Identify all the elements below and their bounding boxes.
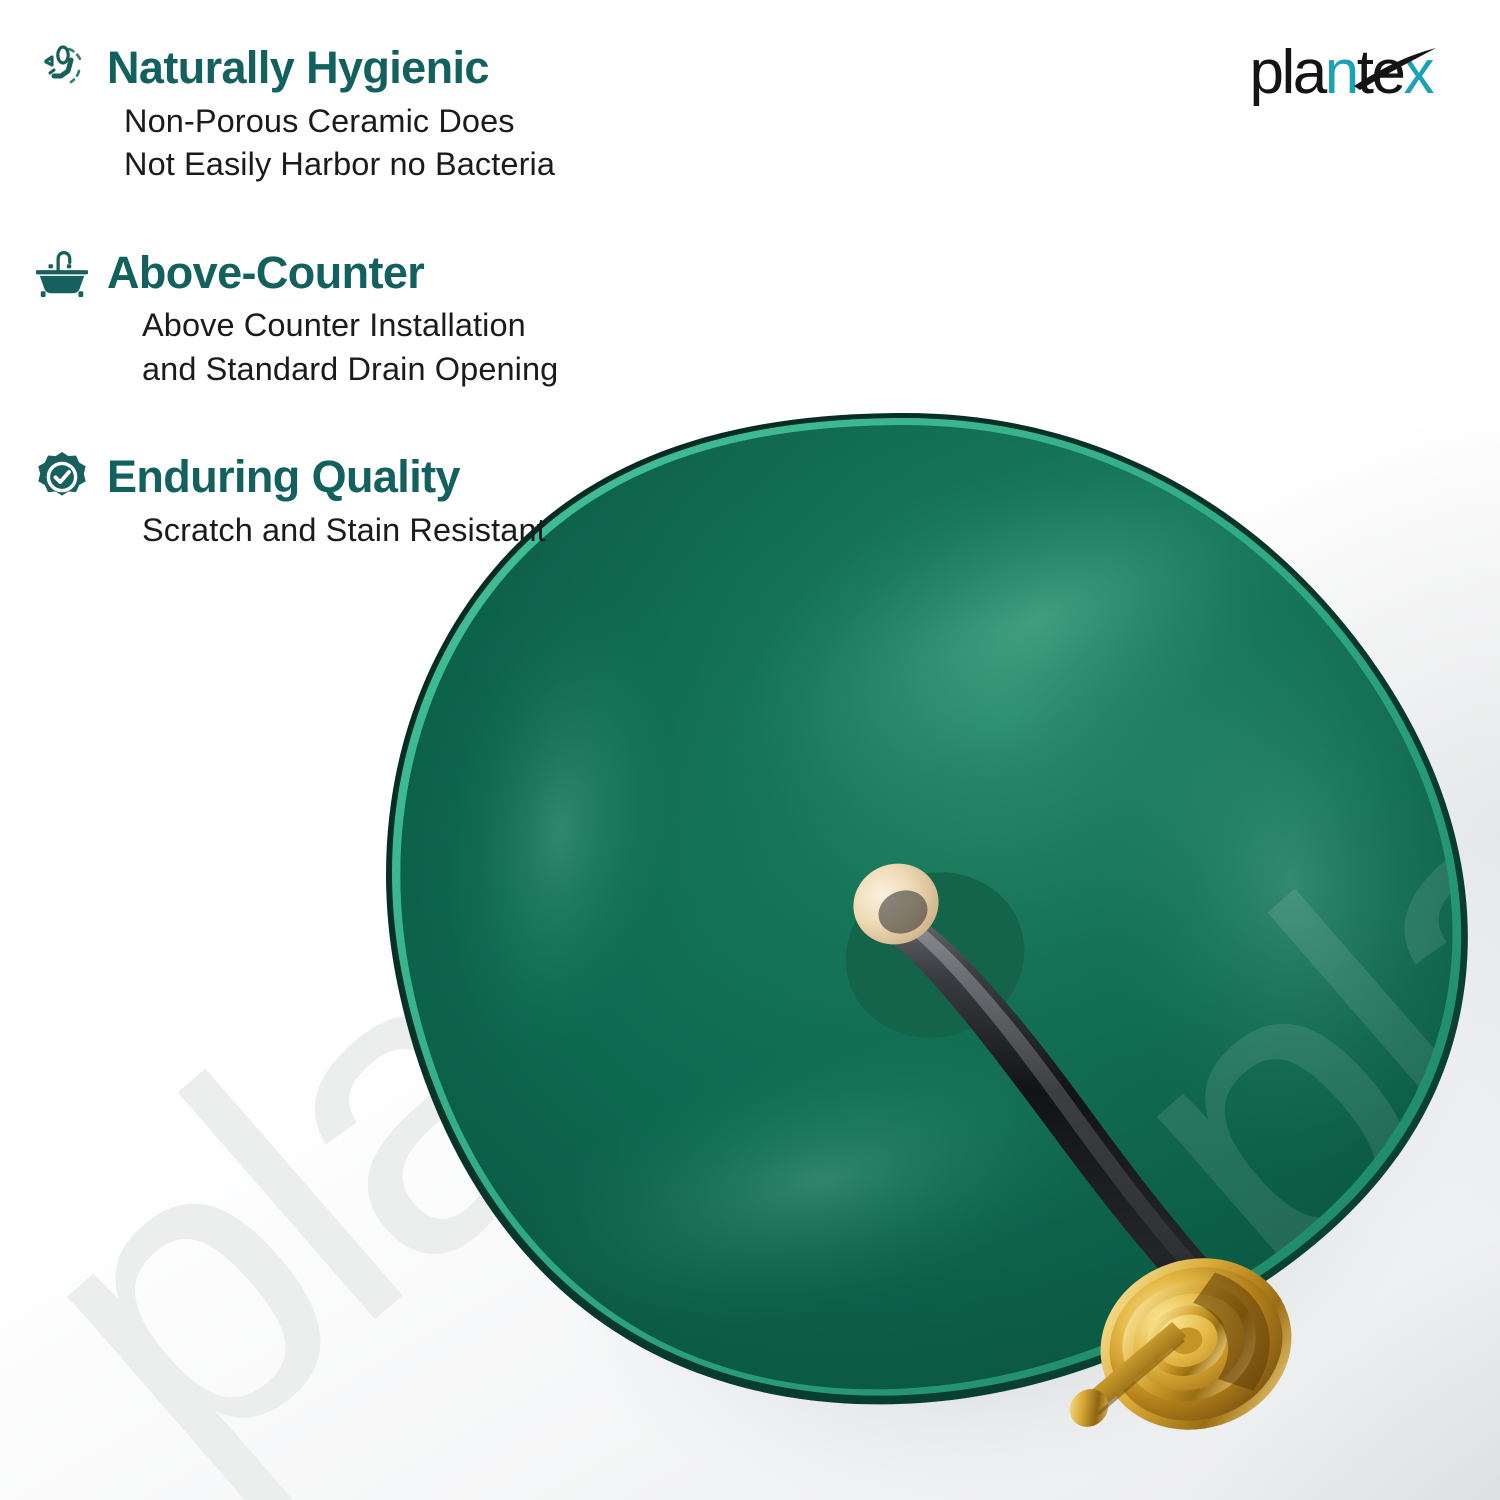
feature-list: Naturally Hygienic Non-Porous Ceramic Do… (34, 40, 734, 604)
quality-badge-check-icon (34, 449, 90, 505)
svg-text:plantex: plantex (1033, 193, 1500, 1368)
feature-title: Naturally Hygienic (107, 44, 489, 91)
feature-item-naturally-hygienic: Naturally Hygienic Non-Porous Ceramic Do… (34, 40, 734, 186)
faucet-lever-handle (1062, 1322, 1186, 1435)
logo-segment-x: x (1404, 38, 1433, 107)
faucet-base-shadow (1186, 1262, 1285, 1400)
faucet-base-ring-outer (1084, 1239, 1308, 1448)
faucet-spout (872, 902, 1272, 1352)
feature-description: Non-Porous Ceramic Does Not Easily Harbo… (124, 100, 734, 186)
faucet-base-core (1167, 1323, 1205, 1358)
faucet-base-ring-inner (1143, 1301, 1230, 1380)
faucet-spout-gloss (884, 906, 1258, 1330)
feature-line: and Standard Drain Opening (142, 348, 734, 391)
feature-header: Naturally Hygienic (34, 40, 734, 96)
faucet-base-disc (1084, 1239, 1308, 1448)
watermark-over-basin: plantex (1033, 193, 1500, 1368)
logo-segment-te: te (1357, 38, 1404, 107)
feature-line: Scratch and Stain Resistant (142, 509, 734, 552)
feature-description: Scratch and Stain Resistant (142, 509, 734, 552)
feature-title: Above-Counter (107, 249, 424, 296)
basin-sheen-right (1032, 545, 1500, 1215)
brand-logo: plantex (1250, 42, 1432, 104)
basin-sheen-lower (497, 981, 1142, 1378)
basin-drop-shadow (473, 761, 1500, 1500)
faucet-base-ring-mid (1114, 1272, 1265, 1411)
feature-line: Non-Porous Ceramic Does (124, 100, 734, 143)
feature-description: Above Counter Installation and Standard … (142, 304, 734, 390)
basin-sheen-left (419, 587, 701, 1073)
feature-item-above-counter: Above-Counter Above Counter Installation… (34, 244, 734, 390)
feature-line: Not Easily Harbor no Bacteria (124, 143, 734, 186)
faucet-gold-base (1084, 1239, 1308, 1448)
basin-faucet-icon (34, 244, 90, 300)
bacteria-germ-icon (34, 40, 90, 96)
brand-logo-wordmark: plantex (1250, 42, 1432, 104)
drain-cover (824, 849, 1046, 1061)
feature-header: Above-Counter (34, 244, 734, 300)
product-feature-banner: plantex (0, 0, 1500, 1500)
logo-segment-n: n (1325, 38, 1357, 107)
feature-line: Above Counter Installation (142, 304, 734, 347)
feature-title: Enduring Quality (107, 453, 460, 500)
logo-segment-pla: pla (1250, 38, 1325, 107)
feature-header: Enduring Quality (34, 449, 734, 505)
basin-sheen-upper (673, 349, 1398, 892)
drain-cover-shade (824, 849, 1046, 1061)
faucet-aerator (841, 851, 951, 957)
faucet-aerator-bore (872, 883, 934, 941)
feature-item-enduring-quality: Enduring Quality Scratch and Stain Resis… (34, 449, 734, 552)
